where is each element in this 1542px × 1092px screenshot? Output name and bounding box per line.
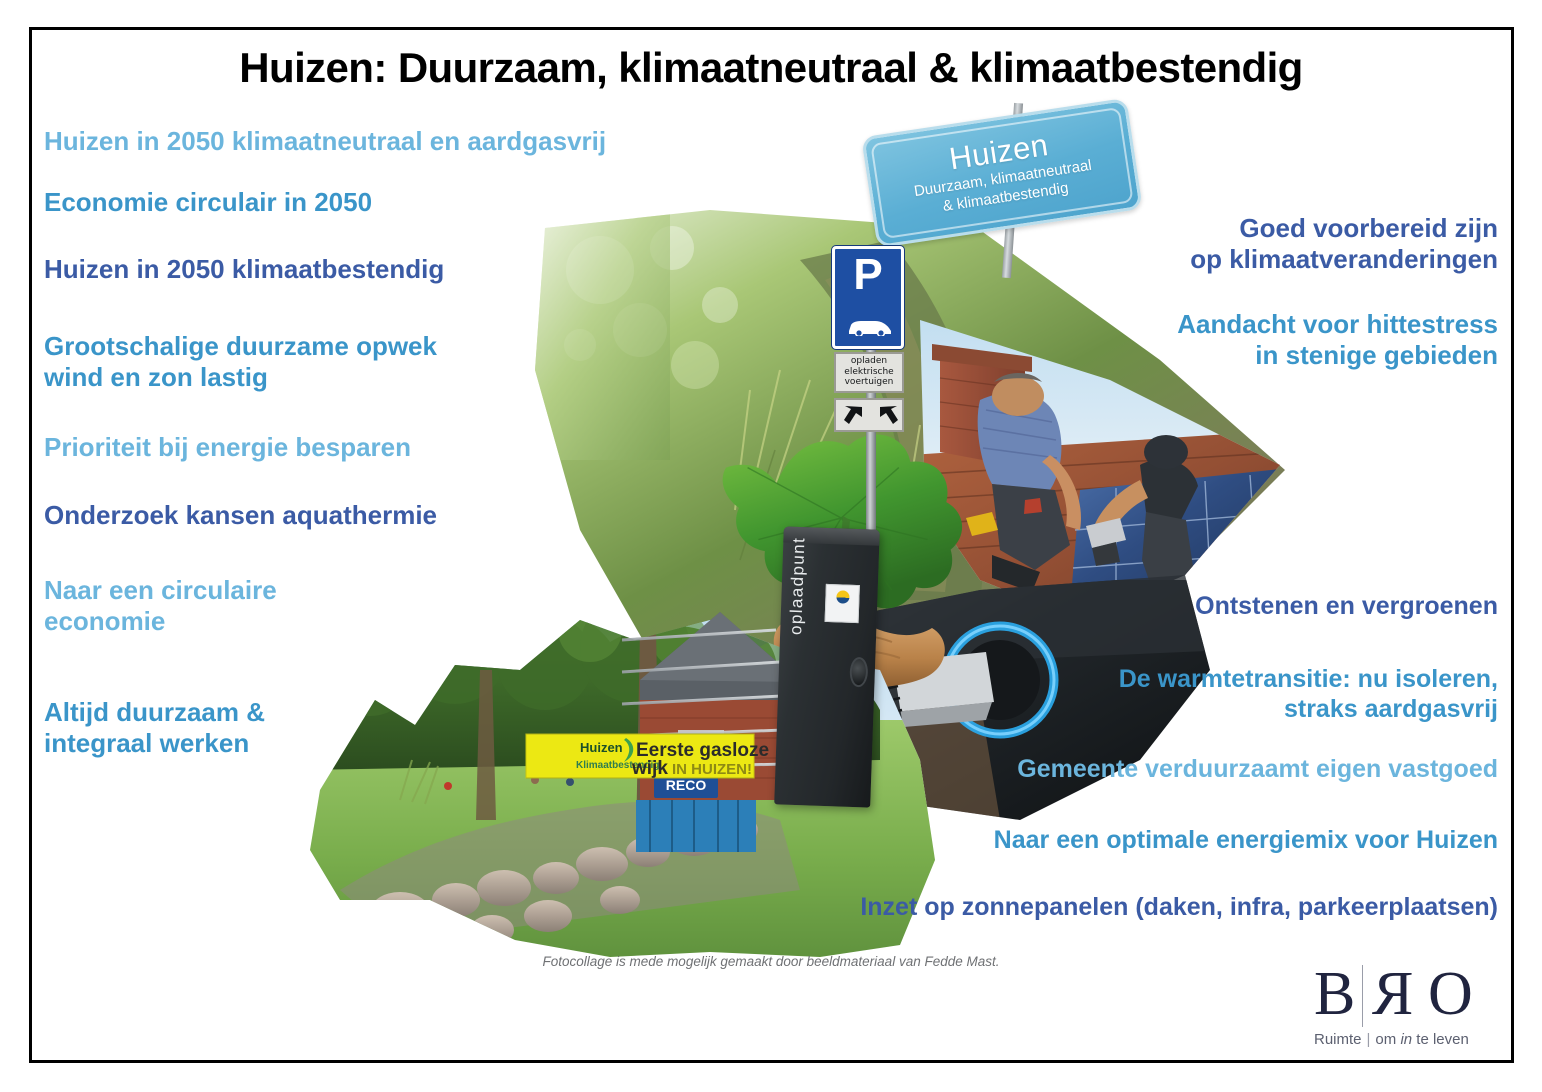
infographic-poster: Huizen: Duurzaam, klimaatneutraal & klim… bbox=[0, 0, 1542, 1092]
statement-left-6: Onderzoek kansen aquathermie bbox=[44, 500, 604, 531]
logo-letter-b: B bbox=[1314, 963, 1355, 1025]
statement-right-1: Goed voorbereid zijn op klimaatveranderi… bbox=[858, 213, 1498, 274]
logo-divider bbox=[1362, 965, 1363, 1027]
logo-letter-o: O bbox=[1428, 963, 1473, 1025]
double-arrow-icon bbox=[836, 400, 906, 434]
logo-letter-r-mirrored: R bbox=[1372, 963, 1413, 1025]
statement-right-4: De warmtetransitie: nu isoleren, straks … bbox=[778, 665, 1498, 724]
statement-right-5: Gemeente verduurzaamt eigen vastgoed bbox=[678, 755, 1498, 785]
tagline-post: te leven bbox=[1412, 1031, 1469, 1048]
statement-right-3: Ontstenen en vergroenen bbox=[858, 592, 1498, 622]
statement-left-1: Huizen in 2050 klimaatneutraal en aardga… bbox=[44, 126, 744, 157]
charging-post-label: oplaadpunt bbox=[786, 536, 809, 635]
charging-post-sticker bbox=[825, 584, 860, 623]
statement-right-7: Inzet op zonnepanelen (daken, infra, par… bbox=[498, 893, 1498, 923]
tagline-pre: om bbox=[1375, 1031, 1400, 1048]
statement-right-2: Aandacht voor hittestress in stenige geb… bbox=[858, 309, 1498, 370]
statement-left-7: Naar een circulaire economie bbox=[44, 575, 464, 636]
statement-left-8: Altijd duurzaam & integraal werken bbox=[44, 697, 464, 758]
tagline-left: Ruimte bbox=[1314, 1031, 1362, 1048]
statement-left-5: Prioriteit bij energie besparen bbox=[44, 432, 604, 463]
page-title: Huizen: Duurzaam, klimaatneutraal & klim… bbox=[0, 44, 1542, 92]
tagline-separator: | bbox=[1362, 1031, 1376, 1048]
sticker-logo-icon bbox=[836, 590, 849, 603]
statement-left-3: Huizen in 2050 klimaatbestendig bbox=[44, 254, 744, 285]
tagline-emphasis: in bbox=[1400, 1031, 1412, 1048]
bro-logo: B R O Ruimte|om in te leven bbox=[1310, 963, 1500, 1055]
ev-sign-arrows bbox=[834, 398, 904, 432]
statement-left-2: Economie circulair in 2050 bbox=[44, 187, 744, 218]
statement-left-4: Grootschalige duurzame opwek wind en zon… bbox=[44, 331, 604, 392]
logo-tagline: Ruimte|om in te leven bbox=[1314, 1031, 1469, 1048]
statement-right-6: Naar een optimale energiemix voor Huizen bbox=[618, 826, 1498, 856]
